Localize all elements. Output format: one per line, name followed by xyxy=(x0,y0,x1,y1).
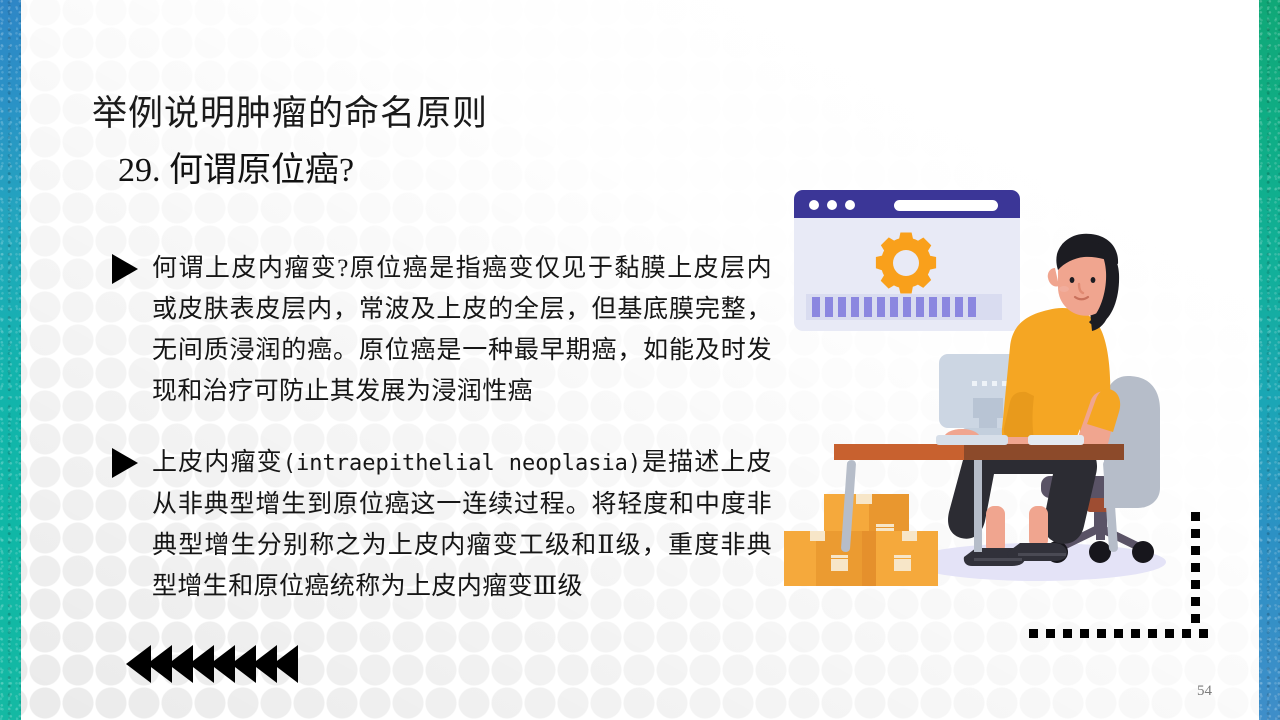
dot-square xyxy=(1046,629,1055,638)
browser-dot xyxy=(827,200,837,210)
bullet-text: 何谓上皮内瘤变?原位癌是指癌变仅见于黏膜上皮层内或皮肤表皮层内，常波及上皮的全层… xyxy=(152,248,772,412)
right-edge-stripe xyxy=(1259,0,1280,720)
chair-wheel xyxy=(1089,541,1111,563)
illustration-woman-at-desk xyxy=(776,176,1206,596)
cardboard-boxes-graphic xyxy=(784,494,938,586)
dot-square xyxy=(1191,529,1200,538)
bullet-item: 何谓上皮内瘤变?原位癌是指癌变仅见于黏膜上皮层内或皮肤表皮层内，常波及上皮的全层… xyxy=(112,248,772,412)
shin-right xyxy=(1029,506,1048,548)
browser-dot xyxy=(845,200,855,210)
dotted-line-horizontal xyxy=(1029,629,1216,638)
dot-square xyxy=(1080,629,1089,638)
dot-square xyxy=(1148,629,1157,638)
browser-dot xyxy=(809,200,819,210)
dot-square xyxy=(1191,580,1200,589)
dotted-line-vertical xyxy=(1191,512,1200,631)
dot-square xyxy=(1114,629,1123,638)
page-number: 54 xyxy=(1197,683,1212,700)
slide-canvas: 举例说明肿瘤的命名原则 29. 何谓原位癌? 何谓上皮内瘤变?原位癌是指癌变仅见… xyxy=(0,0,1280,720)
bullet-list: 何谓上皮内瘤变?原位癌是指癌变仅见于黏膜上皮层内或皮肤表皮层内，常波及上皮的全层… xyxy=(112,248,772,637)
title-block: 举例说明肿瘤的命名原则 29. 何谓原位癌? xyxy=(92,92,488,194)
browser-window-graphic xyxy=(794,190,1020,331)
left-edge-stripe xyxy=(0,0,21,720)
dot-square xyxy=(1191,563,1200,572)
dot-square xyxy=(1097,629,1106,638)
dot-square xyxy=(1199,629,1208,638)
dot-square xyxy=(1191,546,1200,555)
dot-square xyxy=(1182,629,1191,638)
right-edge-texture xyxy=(1259,0,1280,720)
dot-square xyxy=(1165,629,1174,638)
dot-square xyxy=(1131,629,1140,638)
dot-square xyxy=(1191,597,1200,606)
chair-wheel xyxy=(1132,541,1154,563)
slide-subtitle: 29. 何谓原位癌? xyxy=(118,148,488,194)
chevron-left-icon xyxy=(273,645,298,683)
triangle-right-icon xyxy=(112,254,138,284)
slide-title: 举例说明肿瘤的命名原则 xyxy=(92,92,488,136)
browser-address-bar xyxy=(894,200,998,211)
bullet-text: 上皮内瘤变(intraepithelial neoplasia)是描述上皮从非典… xyxy=(152,442,772,607)
left-edge-texture xyxy=(0,0,21,720)
dot-square xyxy=(1191,512,1200,521)
triangle-right-icon xyxy=(112,448,138,478)
dot-square xyxy=(1063,629,1072,638)
dot-square xyxy=(1191,614,1200,623)
dot-square xyxy=(1029,629,1038,638)
bullet-item: 上皮内瘤变(intraepithelial neoplasia)是描述上皮从非典… xyxy=(112,442,772,607)
bullet-text-term: (intraepithelial neoplasia) xyxy=(283,451,641,476)
bullet-text-before: 上皮内瘤变 xyxy=(152,449,283,476)
shin-left xyxy=(986,506,1005,554)
chevron-decoration xyxy=(126,645,294,683)
